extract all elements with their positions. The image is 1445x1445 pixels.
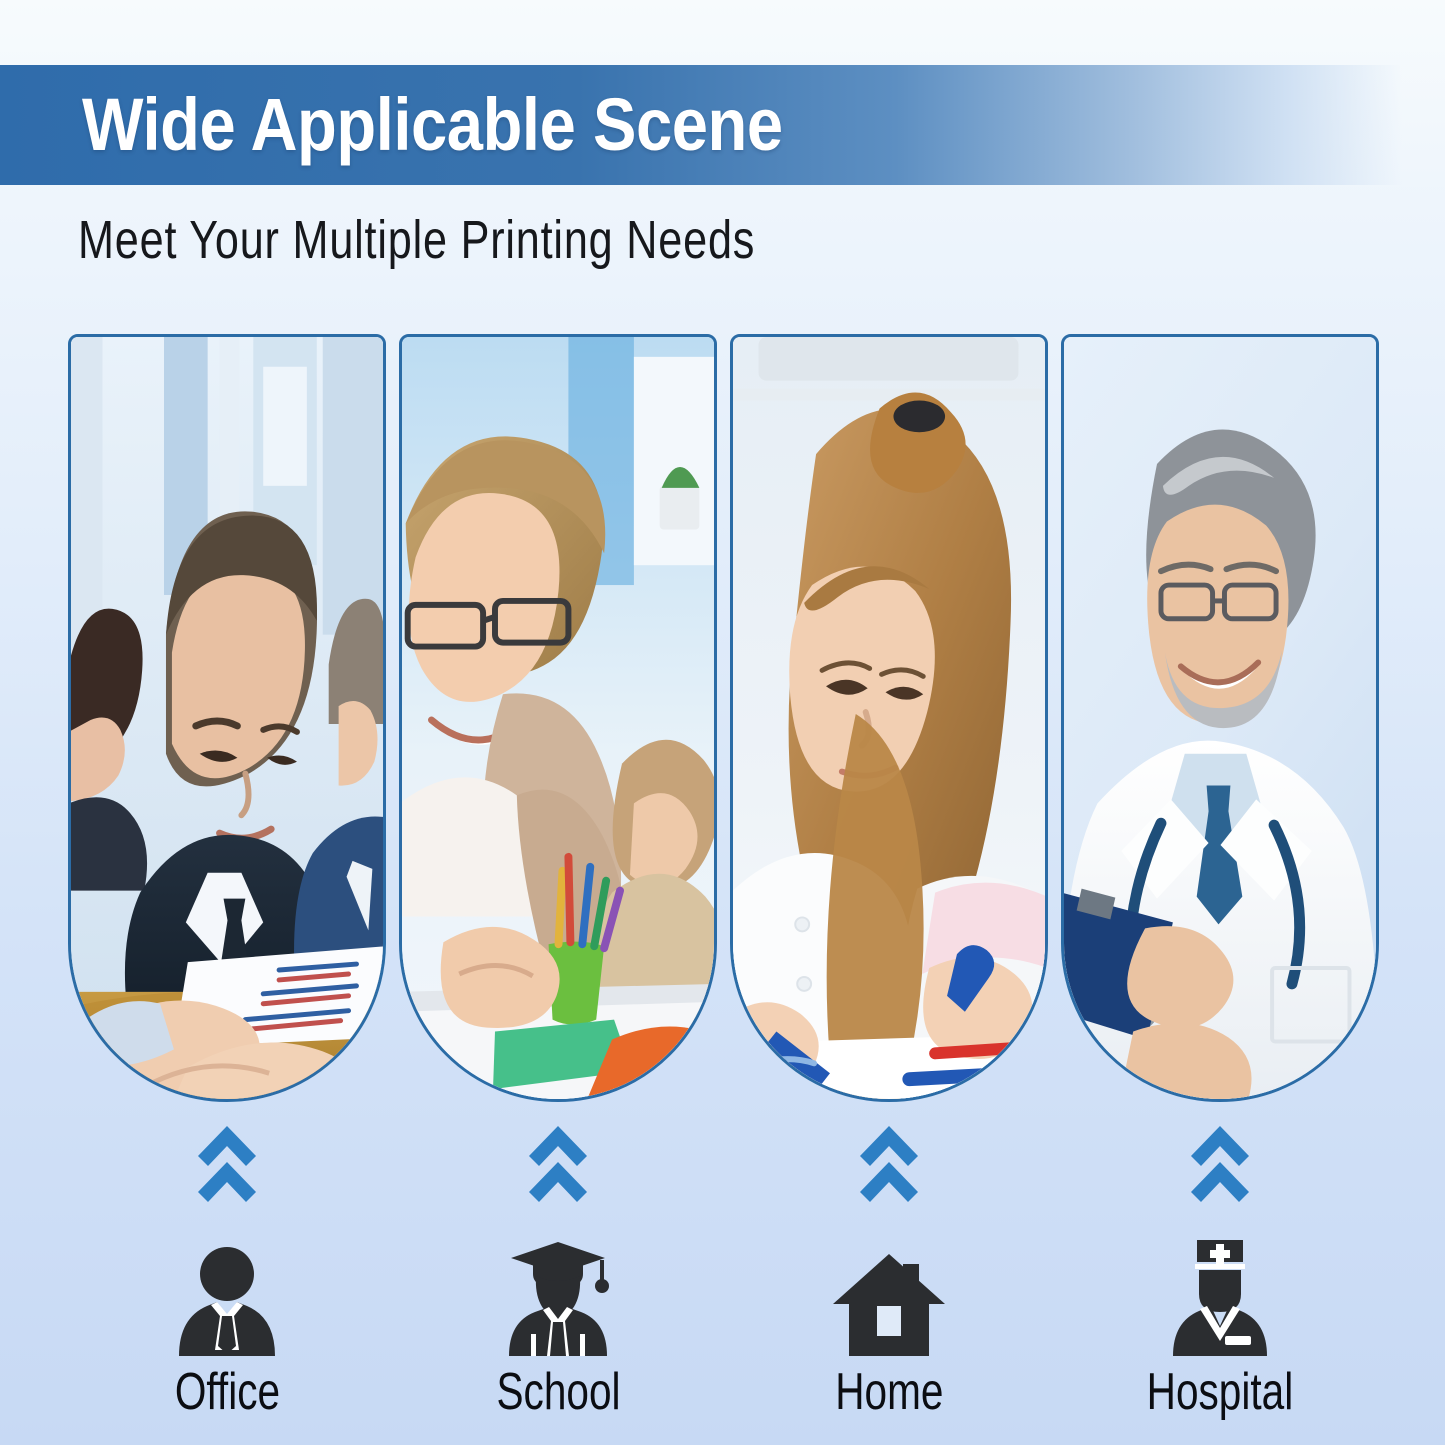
scene-item-school[interactable]: School	[399, 1238, 717, 1418]
scene-item-hospital[interactable]: Hospital	[1061, 1238, 1379, 1418]
double-chevron-up-icon	[196, 1124, 258, 1204]
chevron-row	[68, 1124, 1379, 1208]
medical-staff-icon	[1167, 1238, 1273, 1356]
scene-photo-hospital[interactable]	[1061, 334, 1379, 1102]
scene-photo-school[interactable]	[399, 334, 717, 1102]
scene-label-office: Office	[174, 1366, 279, 1418]
scene-icon-home	[833, 1238, 945, 1356]
subtitle: Meet Your Multiple Printing Needs	[78, 213, 755, 267]
scene-label-home: Home	[835, 1366, 943, 1418]
double-chevron-up-icon	[527, 1124, 589, 1204]
chevron-cell-hospital	[1061, 1124, 1379, 1208]
scene-photo-office[interactable]	[68, 334, 386, 1102]
chevron-cell-office	[68, 1124, 386, 1208]
scene-photo-home[interactable]	[730, 334, 1048, 1102]
scene-photo-row	[68, 334, 1379, 1102]
scene-label-school: School	[496, 1366, 620, 1418]
double-chevron-up-icon	[858, 1124, 920, 1204]
scene-icon-office	[175, 1238, 279, 1356]
scene-item-office[interactable]: Office	[68, 1238, 386, 1418]
graduate-icon	[503, 1240, 613, 1356]
businessperson-icon	[175, 1246, 279, 1356]
scene-icon-hospital	[1167, 1238, 1273, 1356]
scene-label-row: Office School	[68, 1238, 1379, 1418]
scene-item-home[interactable]: Home	[730, 1238, 1048, 1418]
house-icon	[833, 1252, 945, 1356]
chevron-cell-school	[399, 1124, 717, 1208]
page-title: Wide Applicable Scene	[82, 88, 783, 162]
header-banner: Wide Applicable Scene	[0, 65, 1445, 185]
scene-icon-school	[503, 1238, 613, 1356]
scene-label-hospital: Hospital	[1147, 1366, 1294, 1418]
chevron-cell-home	[730, 1124, 1048, 1208]
double-chevron-up-icon	[1189, 1124, 1251, 1204]
